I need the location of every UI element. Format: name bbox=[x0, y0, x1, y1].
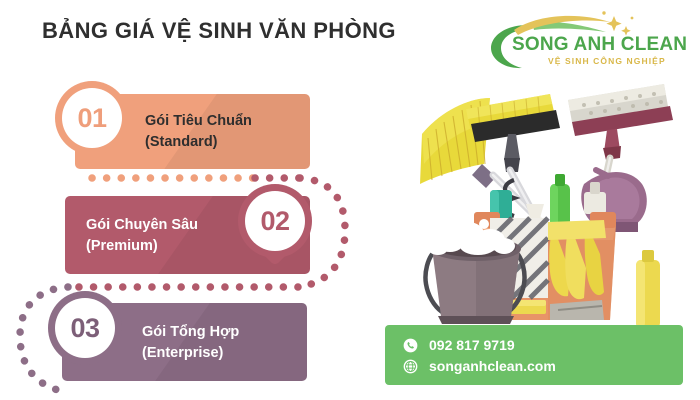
step-card-3-title-line1: Gói Tổng Hợp bbox=[142, 322, 239, 343]
contact-phone-number: 092 817 9719 bbox=[429, 337, 515, 353]
step-pin-3[interactable]: 03 bbox=[48, 291, 122, 383]
gold-sparkle-icon bbox=[602, 11, 633, 35]
step-number-3: 03 bbox=[70, 313, 99, 344]
step-pin-2[interactable]: 02 bbox=[238, 184, 312, 276]
logo-name: SONG ANH CLEAN bbox=[512, 34, 687, 56]
pin-disc: 03 bbox=[55, 298, 115, 358]
contact-website-row[interactable]: songanhclean.com bbox=[403, 358, 556, 374]
step-card-2-title: Gói Chuyên Sâu (Premium) bbox=[86, 215, 198, 256]
pricing-steps: Gói Tiêu Chuẩn (Standard) 01 Gói Chuyên … bbox=[0, 78, 360, 400]
step-card-3-title: Gói Tổng Hợp (Enterprise) bbox=[142, 322, 239, 363]
step-card-2-title-line2: (Premium) bbox=[86, 236, 198, 257]
logo-tagline: VỆ SINH CÔNG NGHIỆP bbox=[548, 56, 666, 66]
phone-icon bbox=[403, 338, 418, 353]
step-card-2-title-line1: Gói Chuyên Sâu bbox=[86, 215, 198, 236]
contact-bar: 092 817 9719 songanhclean.com bbox=[385, 325, 683, 385]
step-number-1: 01 bbox=[77, 103, 106, 134]
step-pin-1[interactable]: 01 bbox=[55, 81, 129, 173]
step-number-2: 02 bbox=[260, 206, 289, 237]
contact-website: songanhclean.com bbox=[429, 358, 556, 374]
contact-phone-row[interactable]: 092 817 9719 bbox=[403, 337, 515, 353]
yellow-bottle-icon bbox=[636, 250, 660, 328]
step-card-1-title-line1: Gói Tiêu Chuẩn bbox=[145, 111, 252, 132]
page-title: BẢNG GIÁ VỆ SINH VĂN PHÒNG bbox=[42, 18, 396, 44]
rubber-gloves-icon bbox=[548, 220, 606, 299]
cleaning-supplies-illustration bbox=[398, 72, 690, 328]
pin-disc: 01 bbox=[62, 88, 122, 148]
step-card-1-title: Gói Tiêu Chuẩn (Standard) bbox=[145, 111, 252, 152]
step-card-3-title-line2: (Enterprise) bbox=[142, 343, 239, 364]
step-card-1-title-line2: (Standard) bbox=[145, 132, 252, 153]
globe-icon bbox=[403, 359, 418, 374]
pin-disc: 02 bbox=[245, 191, 305, 251]
brand-logo: SONG ANH CLEAN VỆ SINH CÔNG NGHIỆP bbox=[486, 8, 676, 72]
